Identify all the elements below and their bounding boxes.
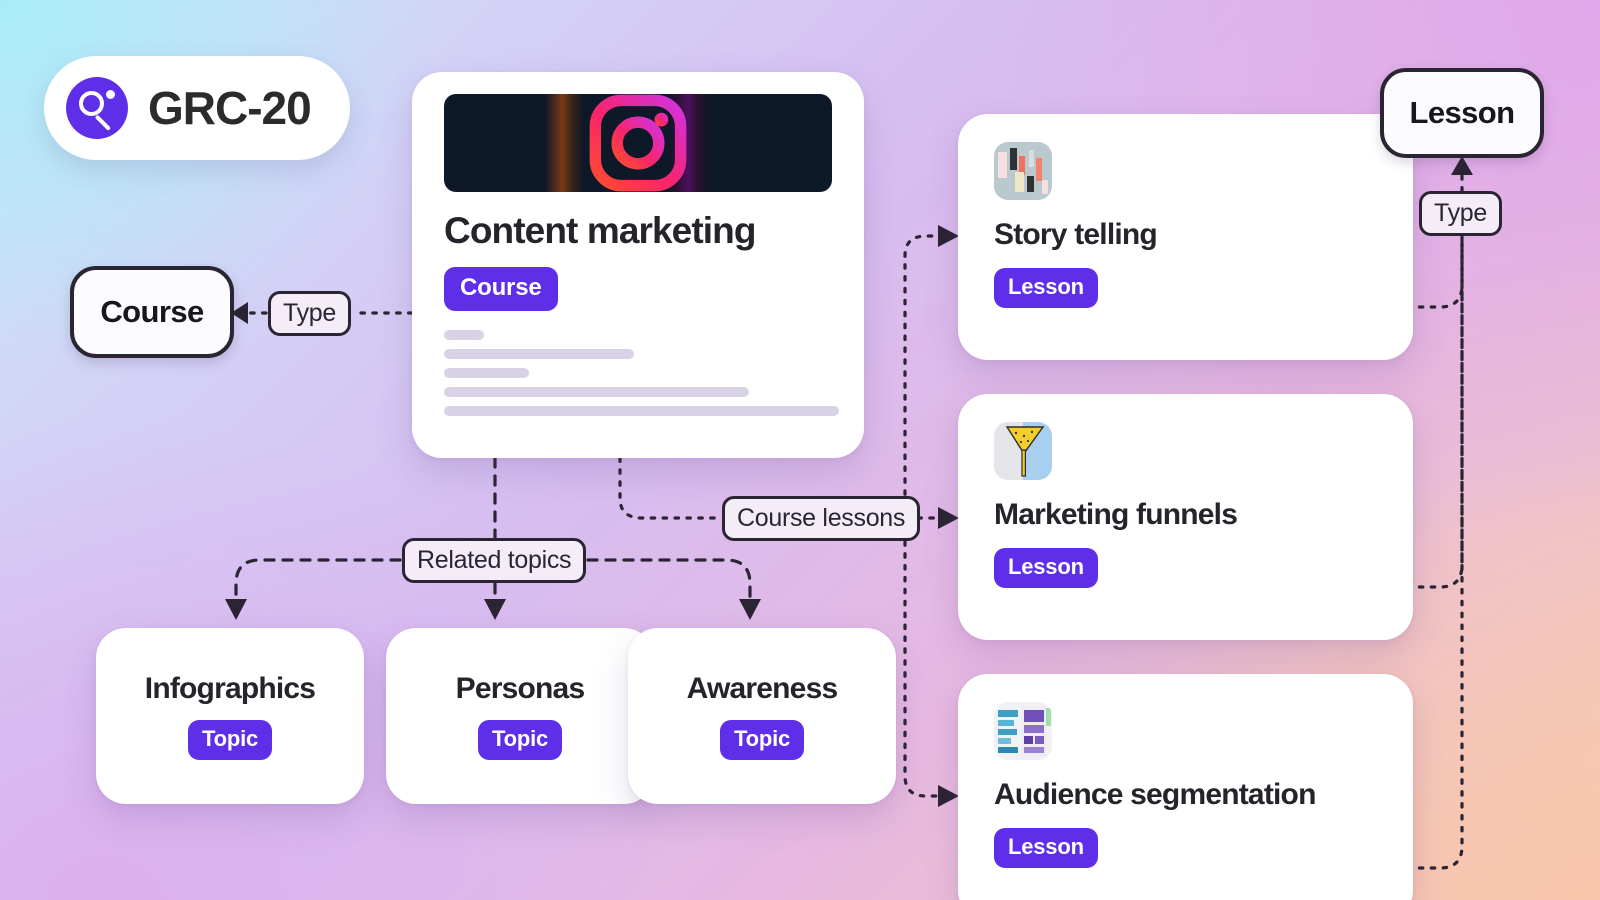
edge-related-to-awareness [588, 560, 750, 600]
topic-card-title: Awareness [687, 672, 838, 706]
segments-thumb-art [994, 702, 1052, 760]
skeleton-line [444, 387, 749, 397]
skeleton-line [444, 368, 529, 378]
edge-label-related-topics-text: Related topics [417, 546, 571, 575]
course-banner-image [444, 94, 832, 192]
knowledge-graph-canvas: GRC-20 Course Lesson Type Type Course le… [0, 0, 1600, 900]
course-type-badge[interactable]: Course [444, 267, 558, 311]
edge-lessons-trunk-up [905, 236, 938, 518]
funnel-thumb-art [994, 422, 1052, 480]
edge-label-course-lessons[interactable]: Course lessons [722, 496, 920, 541]
lesson-type-badge[interactable]: Lesson [994, 268, 1098, 308]
lesson-card-title: Audience segmentation [994, 778, 1413, 812]
entity-card-course[interactable]: Content marketing Course [412, 72, 864, 458]
grc20-logo-icon [66, 77, 128, 139]
entity-card-topic[interactable]: Personas Topic [386, 628, 654, 804]
lesson-type-badge[interactable]: Lesson [994, 548, 1098, 588]
type-node-course[interactable]: Course [70, 266, 234, 358]
logo-ring-shape [79, 91, 104, 116]
edge-label-type-lesson[interactable]: Type [1419, 191, 1502, 236]
segments-thumbnail-icon [994, 702, 1052, 760]
logo-tail-shape [94, 115, 111, 132]
topic-card-title: Infographics [145, 672, 315, 706]
lesson-card-title: Marketing funnels [994, 498, 1413, 532]
arrow-to-lesson-2 [938, 785, 959, 807]
arrow-to-lesson-node [1451, 156, 1473, 175]
entity-card-topic[interactable]: Infographics Topic [96, 628, 364, 804]
arrow-to-lesson-0 [938, 225, 959, 247]
edge-course-to-lessons-label [620, 458, 722, 518]
skeleton-line [444, 330, 484, 340]
edge-label-course-lessons-text: Course lessons [737, 504, 905, 533]
entity-card-lesson[interactable]: Story telling Lesson [958, 114, 1413, 360]
entity-card-topic[interactable]: Awareness Topic [628, 628, 896, 804]
logo-dot-shape [106, 90, 115, 99]
entity-card-lesson[interactable]: Marketing funnels Lesson [958, 394, 1413, 640]
course-card-title: Content marketing [444, 212, 844, 251]
edge-label-related-topics[interactable]: Related topics [402, 538, 586, 583]
edge-related-to-infographics [236, 560, 400, 600]
instagram-icon [586, 94, 690, 192]
lesson-card-title: Story telling [994, 218, 1413, 252]
brand-badge: GRC-20 [44, 56, 350, 160]
type-node-course-label: Course [100, 294, 203, 330]
type-node-lesson[interactable]: Lesson [1380, 68, 1544, 158]
collage-thumbnail-icon [994, 142, 1052, 200]
course-description-skeleton [444, 330, 844, 416]
arrow-to-personas [484, 599, 506, 620]
brand-name: GRC-20 [148, 81, 311, 135]
topic-type-badge[interactable]: Topic [720, 720, 804, 760]
entity-card-lesson[interactable]: Audience segmentation Lesson [958, 674, 1413, 900]
type-node-lesson-label: Lesson [1410, 95, 1515, 131]
edge-label-type-course-text: Type [283, 299, 336, 328]
topic-card-title: Personas [456, 672, 585, 706]
edge-label-type-lesson-text: Type [1434, 199, 1487, 228]
arrow-to-infographics [225, 599, 247, 620]
skeleton-line [444, 406, 839, 416]
arrow-to-awareness [739, 599, 761, 620]
edge-lessons-trunk-down [905, 518, 938, 796]
lesson-type-badge[interactable]: Lesson [994, 828, 1098, 868]
skeleton-line [444, 349, 634, 359]
collage-thumb-art [994, 142, 1052, 200]
arrow-to-lesson-1 [938, 507, 959, 529]
edge-label-type-course[interactable]: Type [268, 291, 351, 336]
funnel-thumbnail-icon [994, 422, 1052, 480]
topic-type-badge[interactable]: Topic [188, 720, 272, 760]
topic-type-badge[interactable]: Topic [478, 720, 562, 760]
